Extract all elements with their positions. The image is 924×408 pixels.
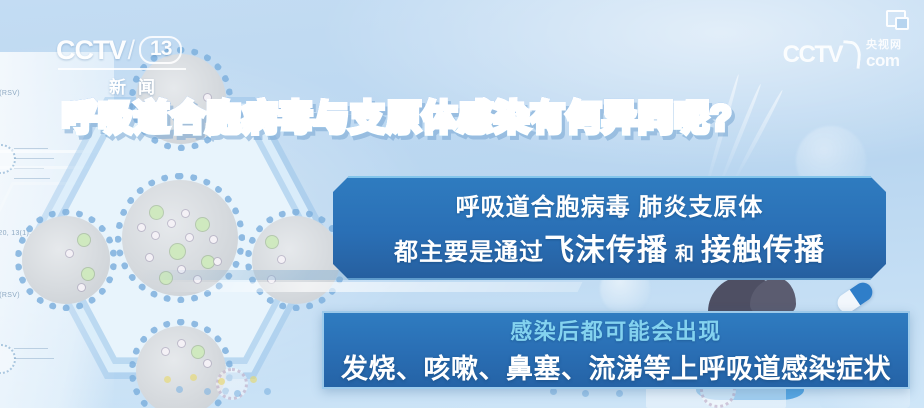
transmission-conjunction: 和 — [675, 239, 694, 266]
poster-leader-line — [14, 148, 48, 149]
cctv-logo-slash: / — [128, 37, 135, 64]
poster-virus-diagram-top — [0, 144, 16, 174]
cctv-com-watermark: CCTV 央视网 com — [783, 40, 902, 69]
background-chevrons — [0, 150, 200, 350]
broadcast-screen: 毒(RSV) 2020, 13(1), 112 毒(RSV) — [0, 0, 924, 408]
transmission-prefix: 都主要是通过 — [394, 232, 544, 267]
virus-particle — [22, 216, 110, 304]
cctv-channel-number: 13 — [139, 36, 182, 64]
transmission-route-droplet: 飞沫传播 — [544, 225, 668, 269]
transmission-pathogens: 呼吸道合胞病毒 肺炎支原体 — [456, 187, 764, 222]
cctv-logo-divider — [58, 68, 186, 70]
poster-footnote: 2020, 13(1), 112 — [0, 230, 46, 237]
poster-label-bottom: 毒(RSV) — [0, 290, 20, 300]
poster-label-top: 毒(RSV) — [0, 88, 20, 98]
watermark-domain: com — [866, 52, 902, 70]
poster-leader-line — [14, 348, 48, 349]
poster-leader-line — [14, 158, 54, 159]
symptoms-banner: 感染后都可能会出现 发烧、咳嗽、鼻塞、流涕等上呼吸道感染症状 — [322, 311, 910, 389]
page-title: 呼吸道合胞病毒与支原体感染有何异同呢? — [62, 90, 732, 141]
virus-particle — [252, 216, 340, 304]
watermark-cn-name: 央视网 — [866, 40, 902, 52]
picture-in-picture-icon[interactable] — [886, 10, 906, 27]
virus-particle — [122, 180, 238, 296]
virus-particle — [136, 326, 226, 408]
cctv-logo-text: CCTV — [56, 37, 126, 64]
swoosh-icon — [841, 40, 863, 69]
background-dot-cluster — [164, 370, 284, 404]
background-virus-small — [216, 368, 248, 400]
poster-leader-line — [14, 178, 50, 179]
transmission-banner: 呼吸道合胞病毒 肺炎支原体 都主要是通过 飞沫传播 和 接触传播 — [333, 176, 886, 280]
watermark-brand: CCTV — [783, 41, 842, 69]
transmission-routes: 都主要是通过 飞沫传播 和 接触传播 — [394, 225, 825, 269]
poster-leader-line — [14, 358, 54, 359]
poster-leader-line — [14, 168, 44, 169]
symptoms-intro: 感染后都可能会出现 — [510, 314, 722, 346]
cctv13-logo: CCTV / 13 新闻 — [56, 36, 206, 98]
symptoms-list: 发烧、咳嗽、鼻塞、流涕等上呼吸道感染症状 — [341, 347, 891, 386]
poster-virus-diagram-bottom — [0, 344, 16, 374]
transmission-route-contact: 接触传播 — [701, 225, 825, 269]
